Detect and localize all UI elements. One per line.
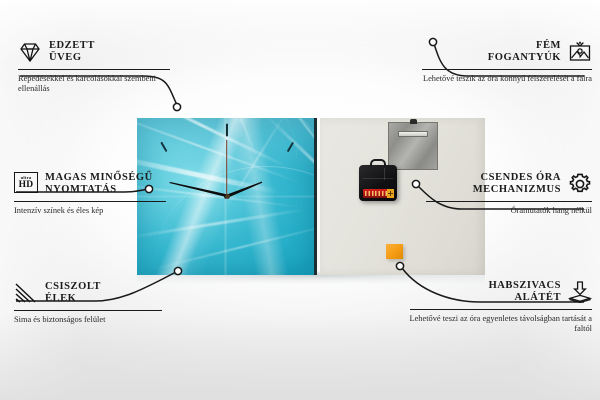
callout-title-line1: FÉM	[488, 40, 561, 52]
callout-rule	[426, 201, 592, 202]
callout-tempered-glass: EDZETT ÜVEG Repedésekkel és karcolásokka…	[18, 40, 188, 95]
callout-metal-handles: FÉM FOGANTYÚK Lehetővé teszik az óra kön…	[410, 40, 592, 84]
callout-foam-underlay: HABSZIVACS ALÁTÉT Lehetővé teszi az óra …	[400, 280, 592, 335]
callout-title-line2: NYOMTATÁS	[45, 184, 153, 196]
callout-rule	[14, 310, 162, 311]
callout-description: Repedésekkel és karcolásokkal szembeni e…	[18, 74, 188, 95]
diamond-icon	[18, 40, 42, 64]
callout-title-line2: ÉLEK	[45, 293, 101, 305]
callout-title-line2: ALÁTÉT	[489, 292, 561, 304]
callout-title-line2: MECHANIZMUS	[473, 184, 561, 196]
ultra-hd-icon: ultra HD	[14, 172, 38, 196]
callout-silent-mechanism: CSENDES ÓRA MECHANIZMUS Óramutatók hang …	[414, 172, 592, 216]
callout-title-line1: CSISZOLT	[45, 281, 101, 293]
callout-description: Óramutatók hang nélkül	[414, 206, 592, 216]
callout-description: Lehetővé teszik az óra könnyű felszerelé…	[410, 74, 592, 84]
callout-title-line1: HABSZIVACS	[489, 280, 561, 292]
callout-rule	[18, 69, 170, 70]
gear-icon	[568, 172, 592, 196]
callout-title-line2: FOGANTYÚK	[488, 52, 561, 64]
callout-rule	[410, 309, 592, 310]
callout-title-line1: MAGAS MINŐSÉGŰ	[45, 172, 153, 184]
leader-dot-foam	[396, 262, 403, 269]
callout-title-line1: CSENDES ÓRA	[473, 172, 561, 184]
callout-description: Intenzív színek és éles kép	[14, 206, 186, 216]
picture-hanger-icon	[568, 40, 592, 64]
leader-dot-tempered-glass	[173, 103, 180, 110]
leader-dot-polished-edges	[174, 267, 181, 274]
callout-description: Lehetővé teszi az óra egyenletes távolsá…	[400, 314, 592, 335]
callout-rule	[14, 201, 166, 202]
callout-rule	[422, 69, 592, 70]
polished-edges-icon	[14, 281, 38, 305]
callout-title-line2: ÜVEG	[49, 52, 95, 64]
press-down-icon	[568, 280, 592, 304]
callout-description: Sima és biztonságos felület	[14, 315, 182, 325]
callout-polished-edges: CSISZOLT ÉLEK Sima és biztonságos felüle…	[14, 281, 182, 325]
callout-title-line1: EDZETT	[49, 40, 95, 52]
callout-high-quality-print: ultra HD MAGAS MINŐSÉGŰ NYOMTATÁS Intenz…	[14, 172, 186, 216]
ultra-hd-icon-main: HD	[19, 181, 34, 191]
